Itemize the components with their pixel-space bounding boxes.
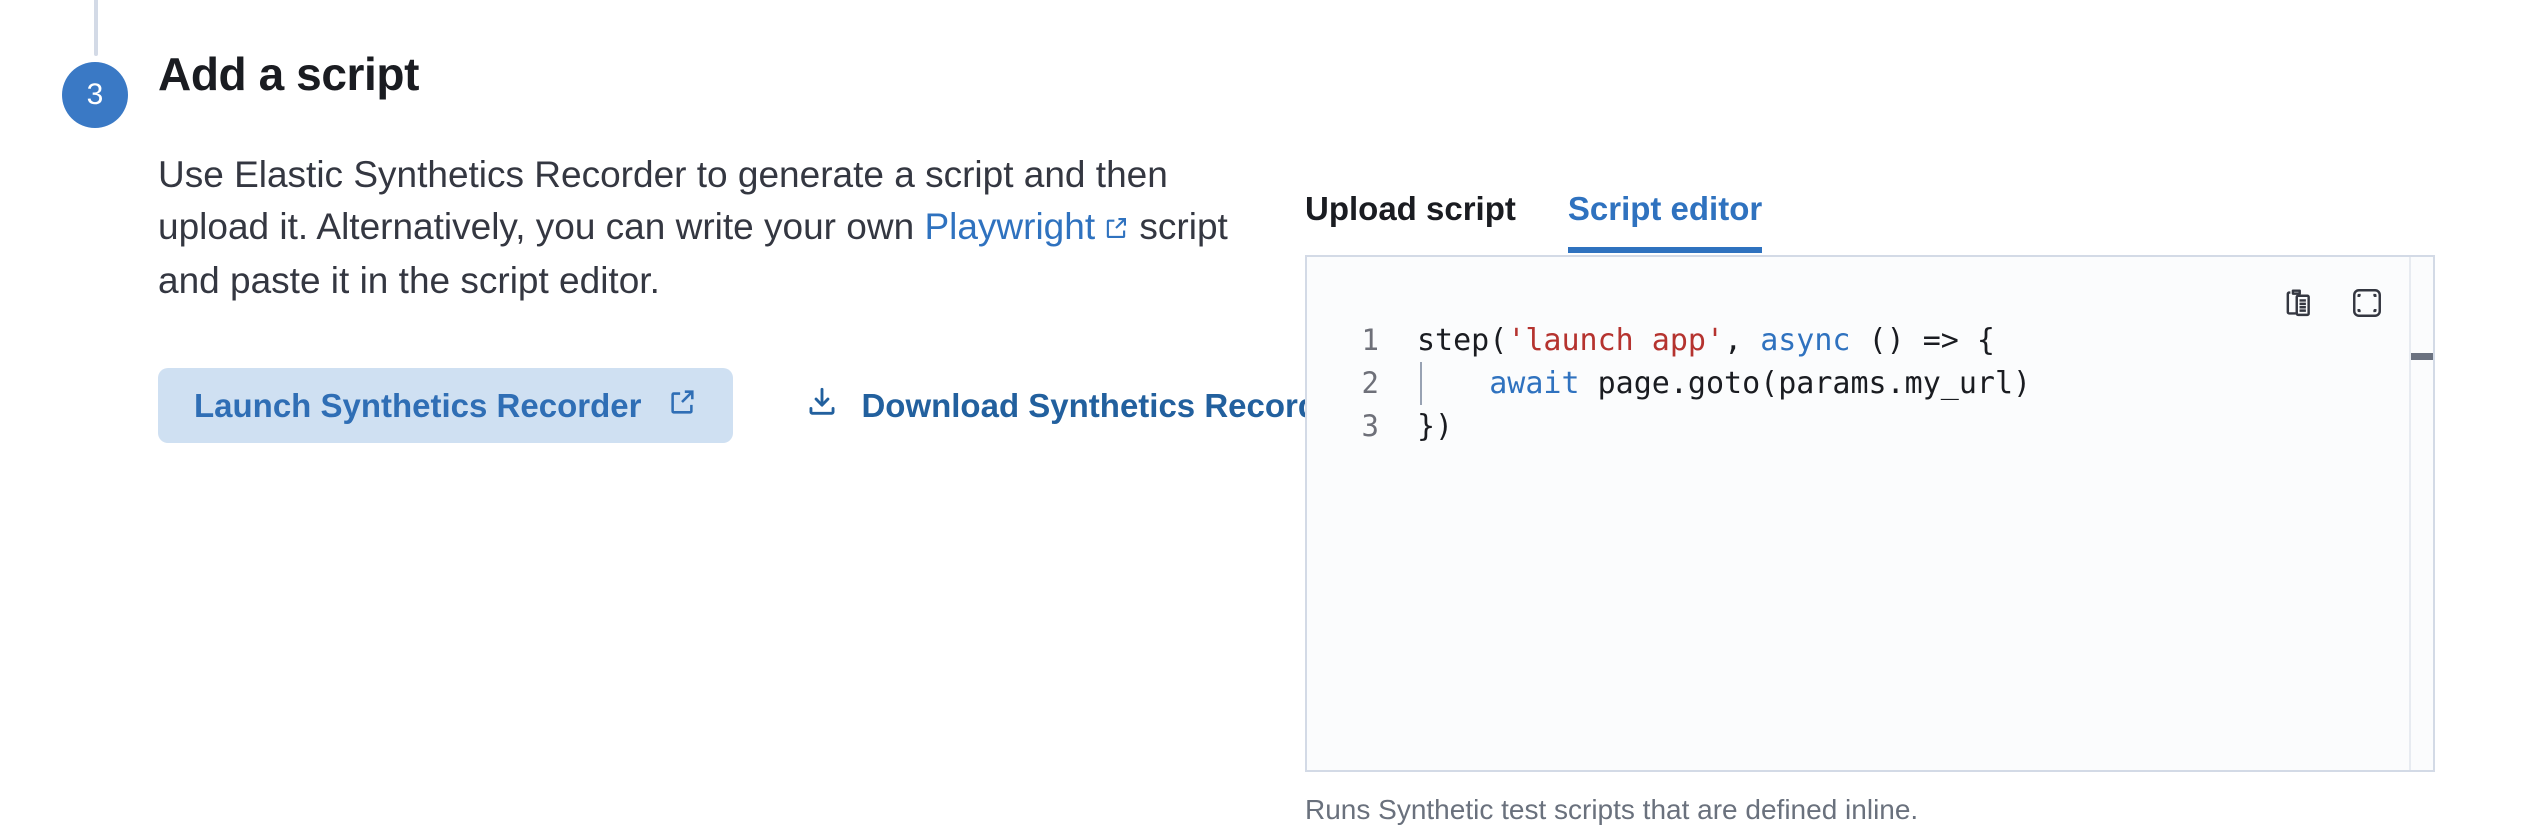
line-number: 3 — [1307, 405, 1417, 448]
code-token: step( — [1417, 323, 1507, 358]
code-line: 1 step('launch app', async () => { — [1307, 319, 2433, 362]
playwright-link[interactable]: Playwright — [924, 206, 1129, 247]
tab-upload-script[interactable]: Upload script — [1305, 192, 1516, 253]
code-line-text: step('launch app', async () => { — [1417, 319, 1995, 362]
code-editor-panel[interactable]: 1 step('launch app', async () => { 2 awa… — [1305, 255, 2435, 772]
code-line-text: await page.goto(params.my_url) — [1417, 362, 2031, 405]
code-token-keyword: async — [1760, 323, 1850, 358]
copy-icon[interactable] — [2281, 283, 2321, 323]
code-token: }) — [1417, 409, 1453, 444]
download-icon — [805, 385, 839, 427]
minimap-marker — [2411, 353, 2433, 360]
code-line: 2 await page.goto(params.my_url) — [1307, 362, 2433, 405]
playwright-link-label: Playwright — [924, 206, 1095, 247]
launch-synthetics-recorder-button[interactable]: Launch Synthetics Recorder — [158, 368, 733, 443]
script-editor-section: Upload script Script editor — [1305, 175, 2435, 826]
tab-script-editor[interactable]: Script editor — [1568, 192, 1762, 253]
editor-toolbar — [2281, 283, 2387, 323]
code-line-text: }) — [1417, 405, 1453, 448]
editor-helptext: Runs Synthetic test scripts that are def… — [1305, 794, 2435, 826]
code-line: 3 }) — [1307, 405, 2433, 448]
code-token-keyword: await — [1489, 366, 1579, 401]
code-content[interactable]: 1 step('launch app', async () => { 2 awa… — [1307, 319, 2433, 770]
download-synthetics-recorder-label: Download Synthetics Recorder — [861, 387, 1349, 425]
page-title: Add a script — [158, 48, 1268, 101]
download-synthetics-recorder-button[interactable]: Download Synthetics Recorder — [805, 385, 1349, 427]
external-link-icon — [1103, 203, 1129, 255]
fullscreen-icon[interactable] — [2347, 283, 2387, 323]
code-token: , — [1724, 323, 1760, 358]
step-number-badge: 3 — [62, 62, 128, 128]
launch-synthetics-recorder-label: Launch Synthetics Recorder — [194, 387, 641, 425]
step-content-left: Add a script Use Elastic Synthetics Reco… — [158, 48, 1268, 307]
script-source-tabs: Upload script Script editor — [1305, 175, 2435, 253]
code-token: page.goto(params.my_url) — [1580, 366, 2032, 401]
line-number: 2 — [1307, 362, 1417, 405]
code-token: () => { — [1851, 323, 1996, 358]
external-link-icon — [667, 387, 697, 425]
code-token — [1417, 366, 1489, 401]
editor-scrollbar[interactable] — [2411, 257, 2433, 770]
action-button-row: Launch Synthetics Recorder Download Synt… — [158, 368, 1349, 443]
code-token-string: 'launch app' — [1507, 323, 1724, 358]
line-number: 1 — [1307, 319, 1417, 362]
step-description: Use Elastic Synthetics Recorder to gener… — [158, 149, 1263, 307]
step-connector-line — [94, 0, 98, 56]
